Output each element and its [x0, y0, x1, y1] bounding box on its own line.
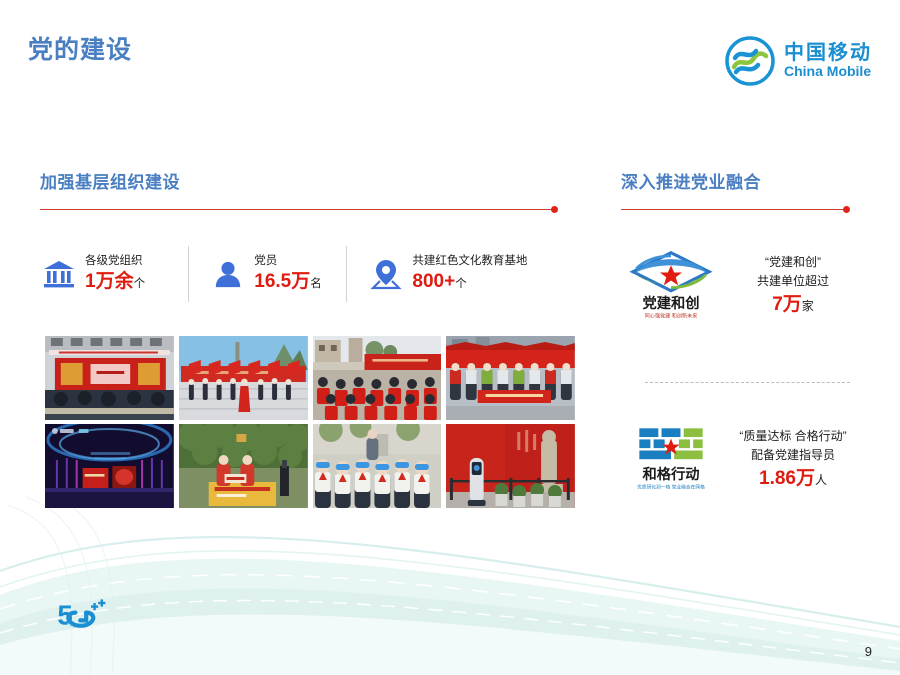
section-header-right: 深入推进党业融合 [621, 168, 850, 213]
right-block-line2: 配备党建指导员 [727, 446, 859, 465]
stat-value: 16.5万名 [254, 270, 321, 294]
right-block-value: 1.86万人 [727, 465, 859, 493]
stat-item-education-bases: 共建红色文化教育基地 800+个 [347, 243, 562, 305]
stat-label: 各级党组织 [85, 254, 145, 270]
china-mobile-logo-icon [725, 36, 775, 86]
right-block-hegexingdong: 和格行动 优质研化到一格 党业融合在网格 “质量达标 合格行动” 配备党建指导员… [623, 422, 859, 498]
hegexingdong-logo-icon: 和格行动 优质研化到一格 党业融合在网格 [623, 422, 719, 498]
photo-orchard-livestream [179, 424, 308, 508]
right-block-text: “质量达标 合格行动” 配备党建指导员 1.86万人 [727, 427, 859, 493]
right-block-dangjianhechuang: 党建和创 同心强党建 和创新未来 “党建和创” 共建单位超过 7万家 [623, 248, 859, 324]
stat-unit: 名 [310, 278, 322, 290]
page-title: 党的建设 [28, 30, 132, 66]
right-block-value: 7万家 [727, 291, 859, 319]
right-block-line1: “质量达标 合格行动” [727, 427, 859, 446]
right-block-line1: “党建和创” [727, 253, 859, 272]
stat-item-party-members: 党员 16.5万名 [189, 243, 346, 305]
stat-value: 1万余个 [85, 270, 145, 294]
hegexingdong-logo-subtitle: 优质研化到一格 党业融合在网格 [637, 484, 705, 491]
slide-root: 党的建设 中国移动 China Mobile 加强基层组织建设 深入推进党业融合 [0, 0, 900, 675]
right-block-unit: 人 [815, 473, 827, 487]
photo-grid [45, 336, 575, 508]
brand-name-en: China Mobile [784, 64, 872, 79]
stat-unit: 个 [134, 278, 146, 290]
photo-volunteer-team [446, 336, 575, 420]
right-block-line2: 共建单位超过 [727, 272, 859, 291]
right-block-unit: 家 [802, 299, 814, 313]
dangjianhechuang-logo-title: 党建和创 [642, 294, 699, 312]
dangjianhechuang-logo-subtitle: 同心强党建 和创新未来 [645, 312, 698, 320]
stat-value: 800+个 [412, 270, 527, 294]
section-rule-right [621, 206, 850, 213]
5g-plus-plus-badge-icon: 5 [55, 592, 127, 638]
brand-logo: 中国移动 China Mobile [725, 36, 872, 86]
stat-label: 党员 [254, 254, 321, 270]
location-icon [369, 256, 403, 292]
section-title-left: 加强基层组织建设 [40, 168, 558, 193]
photo-memorial-statue [446, 424, 575, 508]
section-title-right: 深入推进党业融合 [621, 168, 850, 193]
section-rule-left [40, 206, 558, 213]
brand-name-cn: 中国移动 [784, 43, 872, 64]
bank-icon [42, 256, 76, 292]
stat-item-party-organizations: 各级党组织 1万余个 [42, 243, 188, 305]
photo-indoor-conference [45, 336, 174, 420]
stat-label: 共建红色文化教育基地 [412, 254, 527, 270]
right-block-text: “党建和创” 共建单位超过 7万家 [727, 253, 859, 319]
right-panel-divider [645, 382, 850, 383]
dangjianhechuang-logo-icon: 党建和创 同心强党建 和创新未来 [623, 248, 719, 324]
stat-unit: 个 [455, 278, 467, 290]
photo-led-stage [45, 424, 174, 508]
section-header-left: 加强基层组织建设 [40, 168, 558, 213]
person-icon [211, 256, 245, 292]
hegexingdong-logo-title: 和格行动 [642, 465, 699, 483]
photo-outdoor-assembly [313, 336, 442, 420]
photo-outdoor-flag-ceremony [179, 336, 308, 420]
photo-students-vr [313, 424, 442, 508]
stats-row: 各级党组织 1万余个 党员 16.5万名 [42, 243, 562, 305]
page-number: 9 [865, 644, 872, 659]
